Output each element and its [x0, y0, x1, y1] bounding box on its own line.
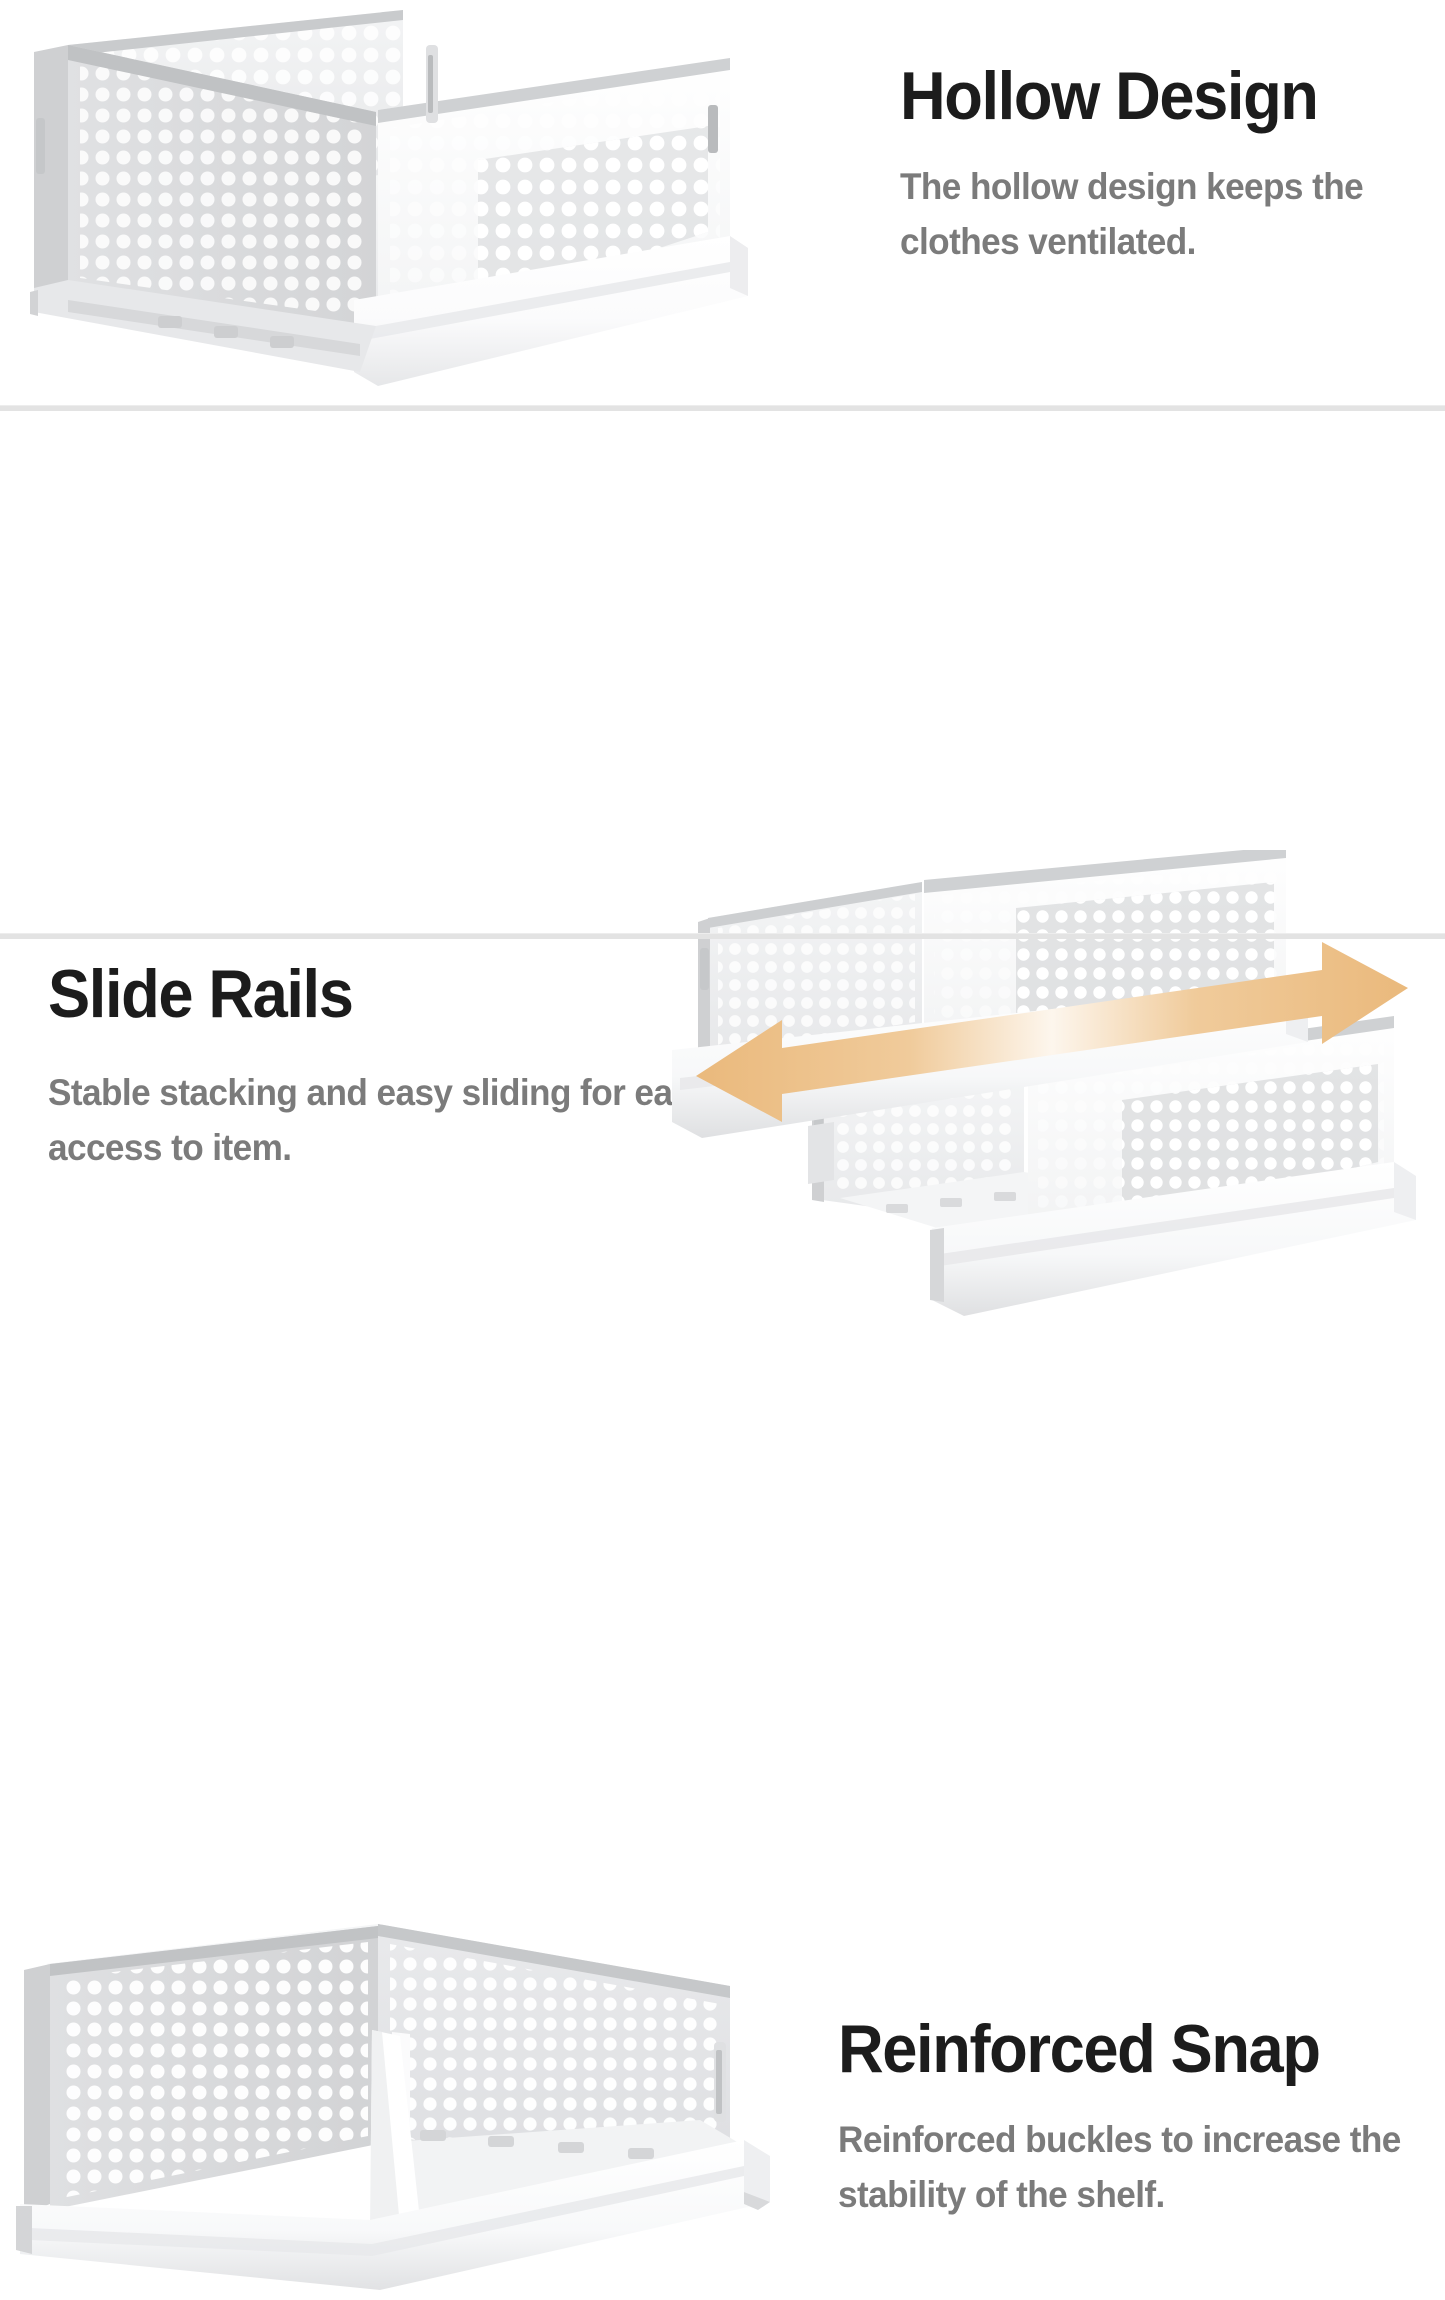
text-block-hollow-design: Hollow Design The hollow design keeps th…	[900, 62, 1430, 270]
section-body-text: The hollow design keeps the clothes vent…	[900, 160, 1432, 270]
basket-left-panel	[24, 1926, 378, 2214]
snap-buckle-icon	[558, 2142, 584, 2153]
section-headline: Reinforced Snap	[838, 2015, 1396, 2083]
section-body-text: Reinforced buckles to increase the stabi…	[838, 2113, 1445, 2223]
product-image-snap-basket	[0, 1914, 790, 2300]
section-divider-1	[0, 405, 1445, 411]
section-slide-rails: Slide Rails Stable stacking and easy sli…	[0, 412, 1445, 936]
section-divider-2	[0, 933, 1445, 939]
snap-buckle-icon	[488, 2136, 514, 2147]
section-headline: Hollow Design	[900, 62, 1393, 130]
snap-buckle-icon	[628, 2148, 654, 2159]
section-hollow-design: Hollow Design The hollow design keeps th…	[0, 0, 1445, 408]
product-feature-infographic: Hollow Design The hollow design keeps th…	[0, 0, 1445, 1358]
section-reinforced-snap: Reinforced Snap Reinforced buckles to in…	[0, 942, 1445, 1358]
text-block-reinforced-snap: Reinforced Snap Reinforced buckles to in…	[838, 2015, 1438, 2223]
snap-buckle-icon	[420, 2130, 446, 2141]
product-image-single-basket	[8, 0, 808, 400]
snap-buckle-icon	[708, 105, 718, 153]
